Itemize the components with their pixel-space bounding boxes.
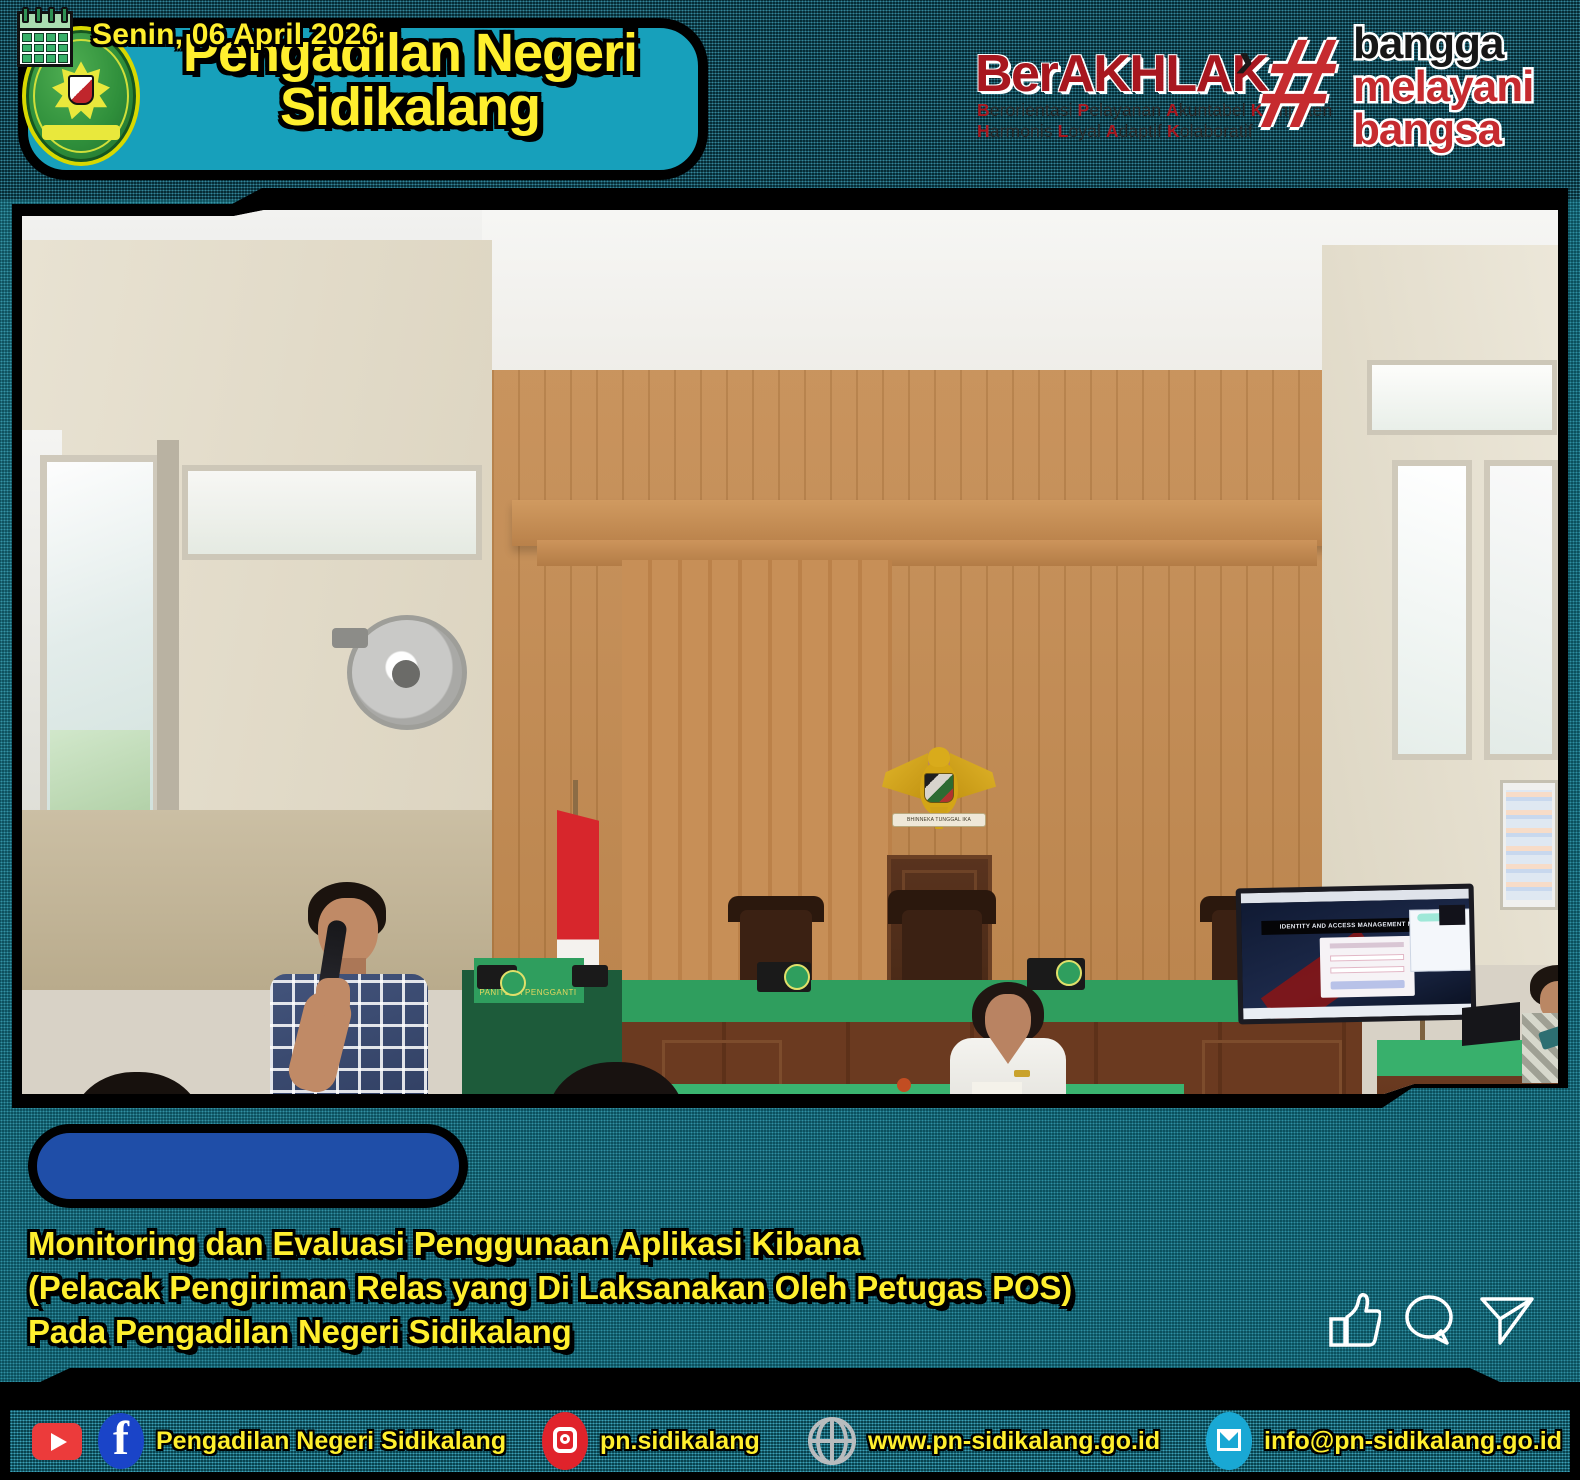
front-desk-green-top [652,1084,1184,1094]
facebook-icon[interactable] [98,1413,144,1469]
login-dialog [1320,936,1415,998]
official-name-badge [1014,1070,1030,1077]
fan-mount [332,628,368,648]
clerestory-window [182,465,482,560]
monitor-seal-1 [500,970,526,996]
bangga-melayani-bangsa-wordmark: bangga melayani bangsa [1353,22,1533,151]
caption-line-1: Monitoring dan Evaluasi Penggunaan Aplik… [28,1222,1298,1266]
monitor-seal-2 [784,964,810,990]
event-date: Senin, 06 April 2026 [92,18,422,52]
window-mullion [157,440,179,870]
screen-corner-logo [1439,905,1465,926]
instagram-label: pn.sidikalang [600,1427,760,1456]
globe-meridian-ellipse [816,1417,848,1465]
berakhlak-subtitle-line-2: Harmonis Loyal Adaptif Kolaboratif [977,121,1253,142]
seated-official [942,982,1072,1094]
back-bench-panel-right [1202,1040,1342,1094]
instagram-icon[interactable] [542,1412,588,1470]
bangga-word: bangga [1353,22,1533,65]
date-badge [28,1124,468,1208]
calendar-rings [22,7,68,23]
audience-red-hair [72,1072,202,1094]
thumbs-up-icon[interactable] [1327,1291,1381,1349]
melayani-word: melayani [1353,65,1533,108]
calendar-icon [14,7,76,69]
monitor-2 [572,965,608,987]
footer-youtube[interactable] [32,1423,82,1460]
footer-website[interactable]: www.pn-sidikalang.go.id [808,1417,1160,1465]
audience-plaid-hair [548,1062,684,1094]
login-submit-button [1331,980,1405,990]
wall-poster-content [1506,790,1552,900]
judge-chair-center [902,910,982,990]
footer-facebook[interactable]: Pengadilan Negeri Sidikalang [98,1413,506,1469]
login-password-field [1330,966,1404,974]
mail-icon[interactable] [1206,1412,1252,1470]
footer-bar: Pengadilan Negeri Sidikalang pn.sidikala… [0,1402,1580,1480]
event-caption: Monitoring dan Evaluasi Penggunaan Aplik… [28,1222,1298,1355]
presenter-hand [316,978,350,1016]
desk-microphone [897,1078,911,1092]
globe-icon[interactable] [808,1417,856,1465]
facebook-label: Pengadilan Negeri Sidikalang [156,1427,506,1456]
reaction-icon-group [1327,1278,1542,1362]
poster-canvas: Pengadilan Negeri Sidikalang BerAKHLAK ›… [0,0,1580,1480]
website-label: www.pn-sidikalang.go.id [868,1427,1160,1456]
caption-line-2: (Pelacak Pengiriman Relas yang Di Laksan… [28,1266,1298,1310]
photo-frame: BHINNEKA TUNGGAL IKA [12,188,1568,1108]
presentation-tv: IDENTITY AND ACCESS MANAGEMENT M [1236,884,1477,1025]
bangsa-word: bangsa [1353,108,1533,151]
fan-hub [392,660,420,688]
clerk-desk-label: PANITERA PENGGANTI [474,988,582,1002]
garuda-emblem: BHINNEKA TUNGGAL IKA [884,745,994,840]
comment-icon[interactable] [1403,1291,1457,1349]
footer-email[interactable]: info@pn-sidikalang.go.id [1206,1412,1562,1470]
footer-content: Pengadilan Negeri Sidikalang pn.sidikala… [10,1410,1570,1472]
calendar-grid [22,33,68,63]
hashtag-icon: # [1249,20,1347,148]
right-upper-window [1367,360,1557,435]
instagram-lens [560,1434,570,1444]
garuda-shield [924,773,954,803]
presenter-with-microphone [260,882,460,1094]
right-window-1 [1392,460,1472,760]
right-window-2 [1484,460,1558,760]
email-label: info@pn-sidikalang.go.id [1264,1427,1562,1456]
court-title-line-2: Sidikalang [280,80,540,134]
right-laptop [1462,1002,1520,1046]
login-username-field [1330,954,1404,962]
youtube-icon[interactable] [32,1423,82,1460]
envelope-flap [1217,1429,1241,1442]
audience-member-red [32,1072,272,1094]
garuda-head [928,747,950,767]
desk-papers [972,1082,1022,1094]
right-seated-attendee [1522,965,1558,1075]
footer-instagram[interactable]: pn.sidikalang [542,1412,760,1470]
seal-shield [68,75,94,105]
event-photo: BHINNEKA TUNGGAL IKA [22,210,1558,1094]
send-icon[interactable] [1479,1291,1535,1349]
seal-ribbon [42,125,120,140]
berakhlak-logo: BerAKHLAK › Berorientasi Pelayanan Akunt… [975,22,1565,162]
audience-member-plaid [510,1062,730,1094]
garuda-motto-ribbon: BHINNEKA TUNGGAL IKA [892,813,986,827]
login-heading [1330,942,1404,949]
caption-line-3: Pada Pengadilan Negeri Sidikalang [28,1310,1298,1354]
attendee-shirt [1522,1013,1558,1083]
berakhlak-wordmark: BerAKHLAK [975,44,1268,104]
